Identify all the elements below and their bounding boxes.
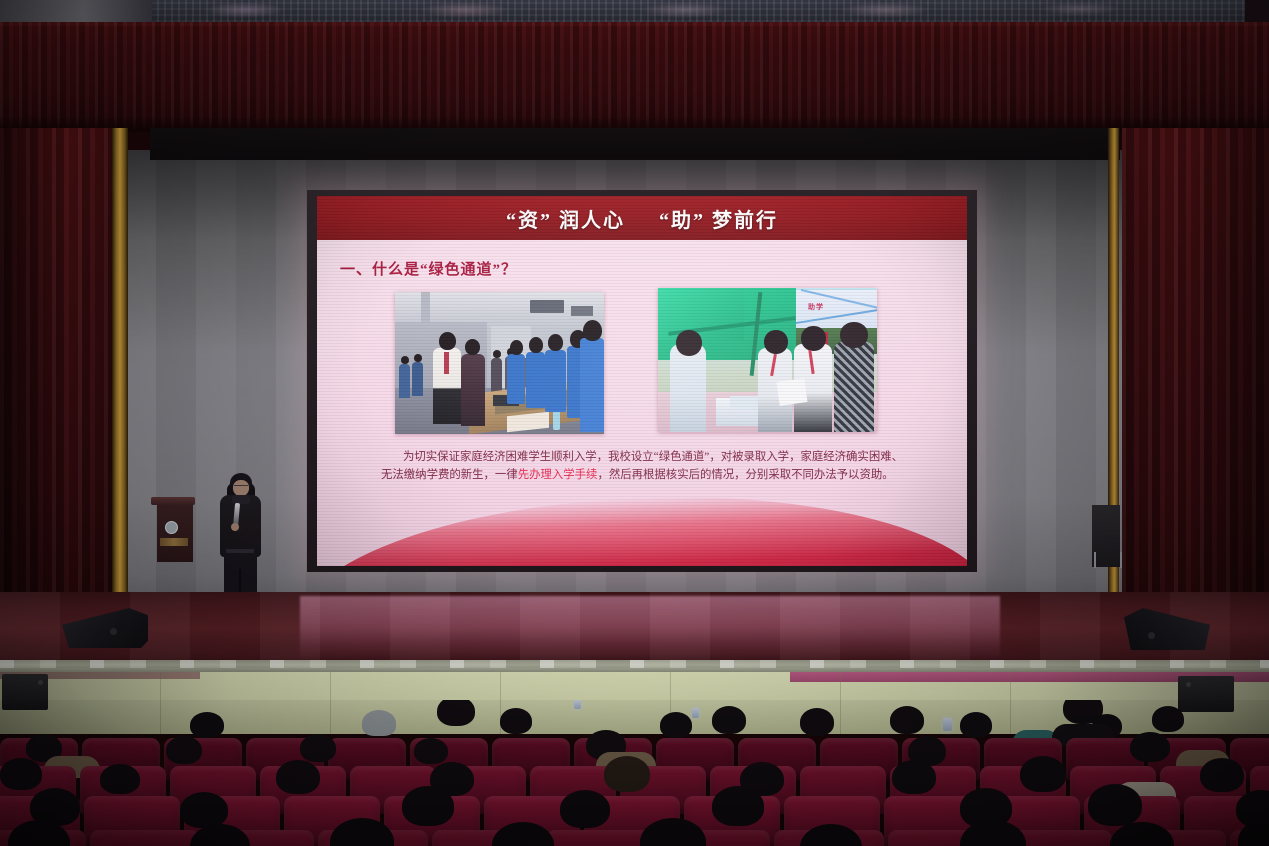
audience-member <box>892 760 936 794</box>
audience-member <box>604 756 650 792</box>
curtain-shadow <box>0 128 118 658</box>
photo-left-head <box>493 350 501 358</box>
ceiling-light-glow <box>205 2 285 18</box>
photo-right-head <box>676 330 702 356</box>
audience-member <box>660 712 692 738</box>
audience-member <box>800 708 834 736</box>
presenter-hand <box>231 523 239 531</box>
slide-sweep-curve <box>317 494 967 566</box>
glasses-icon <box>234 485 248 489</box>
photo-left-head <box>548 334 563 351</box>
audience-member <box>414 738 448 764</box>
auditorium-presentation-photo: “资” 润人心“助” 梦前行 一、什么是“绿色通道”？ <box>0 0 1269 846</box>
stage-curtain-left <box>0 128 118 658</box>
photo-left-volunteer-vest <box>526 352 545 408</box>
raised-phone <box>574 700 581 709</box>
audience-member <box>300 734 336 762</box>
slide-body-text: 为切实保证家庭经济困难学生顺利入学，我校设立“绿色通道”，对被录取入学，家庭经济… <box>381 448 903 485</box>
photo-right-head <box>840 322 868 348</box>
stage-monitor-handle <box>110 628 117 635</box>
ceiling-light-glow <box>1040 2 1120 16</box>
ceiling-light-glow <box>420 2 510 18</box>
slide-bottom-sweep <box>317 494 967 566</box>
slide-photo-right: 助学 <box>658 288 877 432</box>
seat <box>90 830 200 846</box>
audience-member <box>1152 706 1184 732</box>
ceiling-light-glow <box>640 2 730 18</box>
curtain-gold-trim-right <box>1108 128 1119 648</box>
photo-left-head <box>529 337 543 353</box>
audience-member-with-cap <box>362 710 396 736</box>
stage-edge-reflection <box>0 660 1269 668</box>
photo-right-woman <box>834 342 874 432</box>
curtain-gold-trim-left <box>112 128 128 648</box>
photo-right-student <box>670 344 706 432</box>
stage-floor-sheen <box>0 592 1269 668</box>
curtain-shadow <box>1122 128 1269 658</box>
audience-member <box>960 712 992 738</box>
photo-right-banner-text: 助学 <box>808 302 824 312</box>
audience-member <box>100 764 140 794</box>
slide-title: “资” 润人心“助” 梦前行 <box>506 204 778 233</box>
audience-member <box>1200 758 1244 792</box>
audience-member <box>166 736 202 764</box>
slide-header-band: “资” 润人心“助” 梦前行 <box>317 196 967 240</box>
lectern-top <box>151 497 195 505</box>
photo-left-head <box>401 356 409 364</box>
audience-member <box>890 706 924 734</box>
wall-speaker-port <box>38 680 43 685</box>
photo-left-head <box>465 339 480 355</box>
side-stage-equipment-legs <box>1094 552 1122 568</box>
slide-photo-left <box>395 292 604 434</box>
photo-left-volunteer-vest <box>507 354 525 404</box>
photo-left-volunteer-vest <box>580 338 604 432</box>
photo-left-head <box>583 320 602 341</box>
lectern-emblem <box>165 521 178 534</box>
photo-left-volunteer-vest <box>545 350 566 412</box>
audience-member <box>402 786 454 826</box>
audience-member <box>712 706 746 734</box>
photo-right-head <box>764 330 788 354</box>
photo-left-woman <box>461 354 485 426</box>
slide-section-heading: 一、什么是“绿色通道”？ <box>340 258 517 279</box>
photo-left-beam <box>421 292 430 326</box>
lectern-nameplate <box>160 538 188 546</box>
slide-body-part2: ，然后再根据核实后的情况，分别采取不同办法予以资助。 <box>597 469 893 481</box>
audience-member <box>276 760 320 794</box>
projection-screen: “资” 润人心“助” 梦前行 一、什么是“绿色通道”？ <box>317 196 967 566</box>
audience-member <box>0 758 42 790</box>
audience-member <box>1020 756 1066 792</box>
photo-left-background-person <box>412 362 423 396</box>
audience-member <box>190 712 224 738</box>
stage-monitor-handle <box>1148 632 1155 639</box>
photo-left-background-person <box>399 364 410 398</box>
photo-left-vent <box>571 306 593 316</box>
photo-right-head <box>801 326 826 351</box>
ceiling-light-glow <box>840 2 930 18</box>
photo-left-head <box>439 332 456 350</box>
audience-member <box>712 786 764 826</box>
raised-phone <box>692 708 699 718</box>
audience-member <box>1088 784 1142 826</box>
stage-inner-masking <box>150 128 1120 160</box>
wall-speaker-port <box>1186 682 1191 687</box>
photo-right-document <box>776 378 807 406</box>
photo-left-water-bottle <box>553 410 560 430</box>
audience-member <box>437 700 475 726</box>
audience-member <box>500 708 532 734</box>
slide-title-part1: “资” 润人心 <box>506 210 625 232</box>
presentation-slide: “资” 润人心“助” 梦前行 一、什么是“绿色通道”？ <box>317 196 967 566</box>
slide-title-part2: “助” 梦前行 <box>659 210 778 232</box>
curtain-valance <box>0 22 1269 132</box>
photo-left-vent <box>530 300 564 313</box>
photo-left-head <box>414 354 422 362</box>
photo-left-head <box>510 340 523 355</box>
audience-seating <box>0 700 1269 846</box>
raised-phone <box>943 718 952 731</box>
stage-curtain-right <box>1122 128 1269 658</box>
audience-member <box>180 792 228 828</box>
audience-member <box>560 790 610 828</box>
audience-member <box>1130 732 1170 762</box>
slide-body-highlight: 先办理入学手续 <box>518 469 598 481</box>
photo-left-tie <box>444 352 449 374</box>
